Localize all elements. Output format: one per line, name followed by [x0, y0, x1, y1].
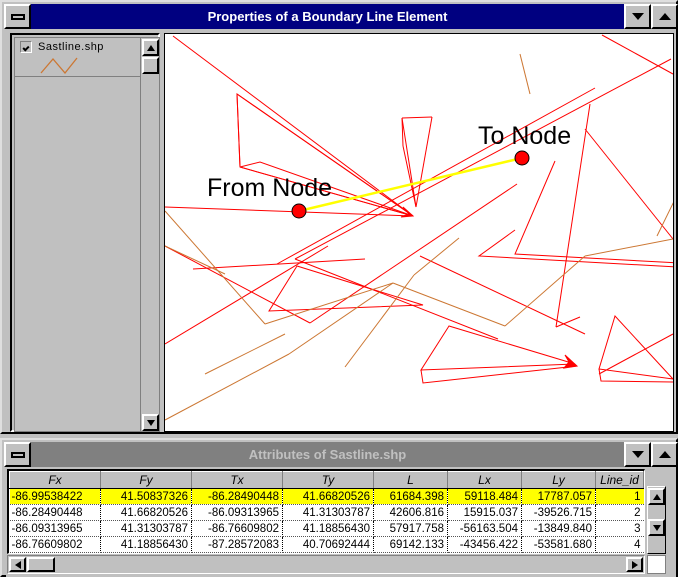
- legend-scroll-thumb[interactable]: [142, 57, 159, 74]
- scroll-right-arrow-icon: [632, 561, 638, 569]
- table-scroll-track-upper[interactable]: [648, 505, 665, 519]
- cell-tx: -86.28490448: [192, 489, 283, 505]
- map-canvas[interactable]: From Node To Node: [165, 34, 673, 431]
- cell-fy: 41.50837326: [101, 489, 192, 505]
- to-node-marker[interactable]: [515, 151, 529, 165]
- maximize-up-icon: [659, 451, 671, 458]
- table-scroll-right-button[interactable]: [626, 557, 643, 572]
- cell-lx: -56163.504: [448, 521, 522, 537]
- legend-item-row[interactable]: Sastline.shp: [15, 38, 142, 56]
- cell-l: 61684.398: [374, 489, 448, 505]
- cell-tx: -86.76609802: [192, 521, 283, 537]
- minimize-box-icon: [11, 452, 25, 458]
- properties-maximize-button[interactable]: [651, 4, 678, 29]
- cell-fy: 41.31303787: [101, 521, 192, 537]
- column-header-tx[interactable]: Tx: [192, 472, 283, 489]
- cell-fy: 41.66820526: [101, 505, 192, 521]
- cell-lx: -43456.422: [448, 537, 522, 553]
- cell-line-id: 3: [596, 521, 644, 537]
- application-window: Properties of a Boundary Line Element Sa…: [0, 0, 678, 577]
- table-scrollbar-corner: [647, 555, 666, 574]
- legend-vertical-scrollbar[interactable]: [140, 38, 159, 431]
- properties-window-title: Properties of a Boundary Line Element: [31, 4, 624, 29]
- cell-line-id: 2: [596, 505, 644, 521]
- cell-fx: -86.28490448: [10, 505, 101, 521]
- cell-ly: 17787.057: [522, 489, 596, 505]
- from-node-marker[interactable]: [292, 204, 306, 218]
- maximize-up-icon: [659, 13, 671, 20]
- legend-symbol: [15, 56, 142, 74]
- column-header-ly[interactable]: Ly: [522, 472, 596, 489]
- layer-visibility-checkbox[interactable]: [20, 41, 32, 53]
- to-node-label: To Node: [478, 122, 571, 150]
- legend-list[interactable]: Sastline.shp: [15, 38, 140, 431]
- legend-divider: [15, 76, 142, 77]
- table-horizontal-scroll-thumb[interactable]: [27, 557, 55, 572]
- cell-l: 69142.133: [374, 537, 448, 553]
- legend-scroll-down-button[interactable]: [142, 414, 159, 431]
- column-header-ty[interactable]: Ty: [283, 472, 374, 489]
- legend-scroll-track[interactable]: [142, 74, 159, 414]
- table-row[interactable]: -86.09313965 41.31303787 -86.76609802 41…: [10, 521, 644, 537]
- column-header-l[interactable]: L: [374, 472, 448, 489]
- attributes-window-title: Attributes of Sastline.shp: [31, 442, 624, 467]
- attributes-maximize-button[interactable]: [651, 442, 678, 467]
- column-header-fx[interactable]: Fx: [10, 472, 101, 489]
- map-view[interactable]: From Node To Node: [164, 33, 674, 432]
- cell-l: 57917.758: [374, 521, 448, 537]
- legend-scroll-up-button[interactable]: [142, 39, 159, 56]
- attributes-table: Fx Fy Tx Ty L Lx Ly Line_id -86.99538422: [9, 471, 644, 553]
- cell-lx: 15915.037: [448, 505, 522, 521]
- cell-ty: 41.31303787: [283, 505, 374, 521]
- table-scroll-left-button[interactable]: [9, 557, 26, 572]
- cell-tx: -87.28572083: [192, 537, 283, 553]
- properties-title-bar[interactable]: Properties of a Boundary Line Element: [4, 4, 678, 29]
- column-header-fy[interactable]: Fy: [101, 472, 192, 489]
- properties-restore-button[interactable]: [624, 4, 651, 29]
- column-header-lx[interactable]: Lx: [448, 472, 522, 489]
- table-scroll-up-button[interactable]: [648, 488, 665, 505]
- legend-panel-inner: Sastline.shp: [14, 37, 160, 432]
- table-horizontal-scrollbar[interactable]: [7, 555, 645, 574]
- table-row[interactable]: -86.99538422 41.50837326 -86.28490448 41…: [10, 489, 644, 505]
- legend-item-sastline[interactable]: Sastline.shp: [15, 38, 142, 76]
- table-row[interactable]: -86.28490448 41.66820526 -86.09313965 41…: [10, 505, 644, 521]
- attributes-title-bar[interactable]: Attributes of Sastline.shp: [4, 442, 678, 467]
- attributes-table-area: Fx Fy Tx Ty L Lx Ly Line_id -86.99538422: [6, 469, 676, 577]
- attributes-minimize-button[interactable]: [4, 442, 31, 467]
- cell-ty: 41.66820526: [283, 489, 374, 505]
- cell-line-id: 1: [596, 489, 644, 505]
- cell-line-id: 4: [596, 537, 644, 553]
- cell-l: 42606.816: [374, 505, 448, 521]
- scroll-left-arrow-icon: [15, 561, 21, 569]
- cell-ly: -39526.715: [522, 505, 596, 521]
- column-header-line-id[interactable]: Line_id: [596, 472, 644, 489]
- scroll-up-arrow-icon: [147, 45, 155, 51]
- scroll-up-arrow-icon: [653, 494, 661, 500]
- cell-lx: 59118.484: [448, 489, 522, 505]
- table-scroll-down-button[interactable]: [648, 519, 665, 536]
- table-vertical-scrollbar[interactable]: [647, 486, 666, 554]
- scroll-down-arrow-icon: [147, 420, 155, 426]
- properties-window: Properties of a Boundary Line Element Sa…: [0, 0, 678, 434]
- legend-item-label: Sastline.shp: [38, 41, 104, 53]
- table-header-row: Fx Fy Tx Ty L Lx Ly Line_id: [10, 472, 644, 489]
- cell-fx: -86.99538422: [10, 489, 101, 505]
- cell-ty: 40.70692444: [283, 537, 374, 553]
- properties-minimize-button[interactable]: [4, 4, 31, 29]
- cell-fx: -86.76609802: [10, 537, 101, 553]
- legend-panel: Sastline.shp: [10, 33, 160, 432]
- restore-down-icon: [632, 13, 644, 20]
- scroll-down-arrow-icon: [653, 525, 661, 531]
- map-background: [165, 34, 673, 431]
- cell-fy: 41.18856430: [101, 537, 192, 553]
- attributes-window: Attributes of Sastline.shp Fx: [0, 438, 678, 577]
- cell-ly: -13849.840: [522, 521, 596, 537]
- restore-down-icon: [632, 451, 644, 458]
- attributes-restore-button[interactable]: [624, 442, 651, 467]
- cell-fx: -86.09313965: [10, 521, 101, 537]
- cell-tx: -86.09313965: [192, 505, 283, 521]
- attributes-grid[interactable]: Fx Fy Tx Ty L Lx Ly Line_id -86.99538422: [7, 469, 645, 554]
- zigzag-line-symbol: [37, 56, 97, 74]
- minimize-box-icon: [11, 14, 25, 20]
- from-node-label: From Node: [207, 174, 332, 202]
- cell-ty: 41.18856430: [283, 521, 374, 537]
- cell-ly: -53581.680: [522, 537, 596, 553]
- table-row[interactable]: -86.76609802 41.18856430 -87.28572083 40…: [10, 537, 644, 553]
